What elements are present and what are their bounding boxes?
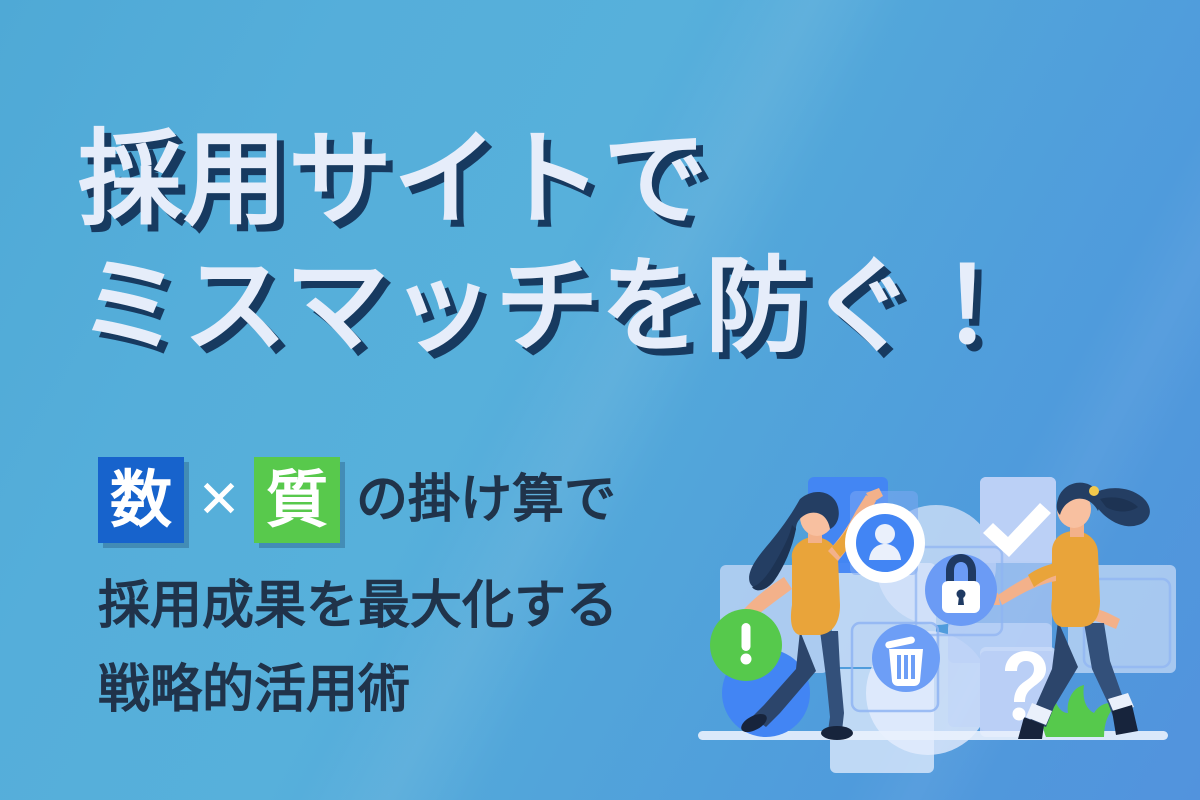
subtitle-tail-text: の掛け算で: [356, 474, 616, 526]
subtitle-line-3: 戦略的活用術: [98, 664, 618, 716]
exclamation-icon: [710, 609, 782, 681]
subtitle-line-2: 採用成果を最大化する: [98, 580, 618, 632]
hero-illustration: [680, 455, 1200, 800]
trash-icon: [872, 624, 940, 692]
page-title: 採用サイトで ミスマッチを防ぐ！: [78, 118, 1020, 367]
user-avatar-icon: [845, 503, 925, 583]
keyword-badge-number: 数: [98, 457, 184, 543]
banner-canvas: 採用サイトで ミスマッチを防ぐ！ 数 ✕ 質 の掛け算で 採用成果を最大化する …: [0, 0, 1200, 800]
lock-icon: [925, 554, 997, 626]
subtitle-block: 数 ✕ 質 の掛け算で 採用成果を最大化する 戦略的活用術: [98, 452, 618, 716]
headline-line-1: 採用サイトで: [78, 118, 1020, 241]
subtitle-line-1: 数 ✕ 質 の掛け算で: [98, 452, 618, 548]
keyword-badge-quality: 質: [254, 457, 340, 543]
headline-line-2: ミスマッチを防ぐ！: [78, 245, 1020, 368]
multiply-icon: ✕: [184, 457, 254, 543]
